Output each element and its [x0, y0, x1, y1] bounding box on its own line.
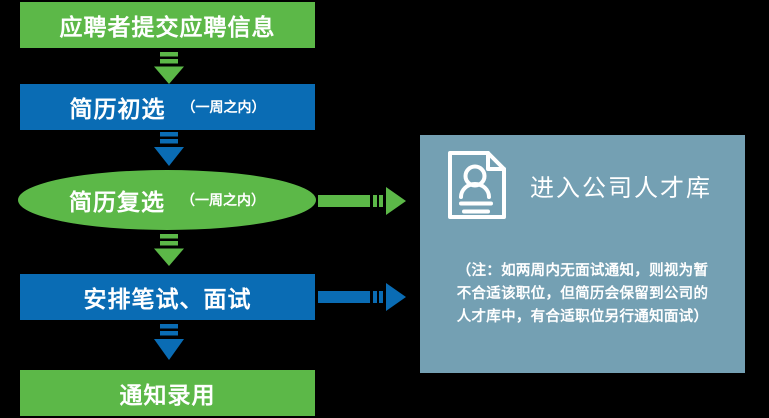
flow-node-resume-first-screening-label: 简历初选 [70, 90, 166, 124]
arrow-arrange-test-to-notify-hire [152, 324, 186, 360]
resume-person-document-icon [446, 149, 508, 221]
talent-pool-note-line-2: 不合适该职位，但简历会保留到公司的 [420, 283, 745, 306]
flowchart-canvas: 应聘者提交应聘信息 简历初选 （一周之内） 简历复选 （一周之内） 安排笔试、面… [0, 0, 769, 418]
flow-node-resume-first-screening[interactable]: 简历初选 （一周之内） [20, 84, 315, 130]
flow-node-arrange-written-test-and-interview-label: 安排笔试、面试 [84, 280, 252, 314]
flow-node-notify-hire-label: 通知录用 [120, 376, 216, 410]
flow-node-resume-second-screening[interactable]: 简历复选 （一周之内） [18, 170, 316, 230]
flow-node-submit-application[interactable]: 应聘者提交应聘信息 [20, 2, 315, 48]
talent-pool-note-line-3: 人才库中，有合适职位另行通知面试） [420, 306, 745, 329]
flow-node-resume-first-screening-duration: （一周之内） [182, 97, 266, 117]
flow-node-resume-second-screening-label: 简历复选 [69, 183, 165, 217]
talent-pool-note-line-1: （注：如两周内无面试通知，则视为暂 [420, 260, 745, 283]
arrow-arrange-test-to-talent-pool [318, 282, 406, 312]
talent-pool-note: （注：如两周内无面试通知，则视为暂 不合适该职位，但简历会保留到公司的 人才库中… [420, 260, 745, 329]
arrow-second-screen-to-arrange-test [152, 234, 186, 266]
arrow-first-screen-to-second-screen [152, 132, 186, 166]
talent-pool-header: 进入公司人才库 [446, 149, 712, 221]
talent-pool-title: 进入公司人才库 [530, 168, 712, 203]
arrow-submit-to-first-screen [152, 52, 186, 84]
flow-node-submit-application-label: 应聘者提交应聘信息 [60, 8, 276, 42]
arrow-second-screen-to-talent-pool [318, 186, 406, 216]
flow-node-arrange-written-test-and-interview[interactable]: 安排笔试、面试 [20, 274, 315, 320]
flow-node-resume-second-screening-duration: （一周之内） [181, 190, 265, 210]
flow-node-notify-hire[interactable]: 通知录用 [20, 370, 315, 416]
talent-pool-info-panel: 进入公司人才库 （注：如两周内无面试通知，则视为暂 不合适该职位，但简历会保留到… [420, 135, 745, 373]
